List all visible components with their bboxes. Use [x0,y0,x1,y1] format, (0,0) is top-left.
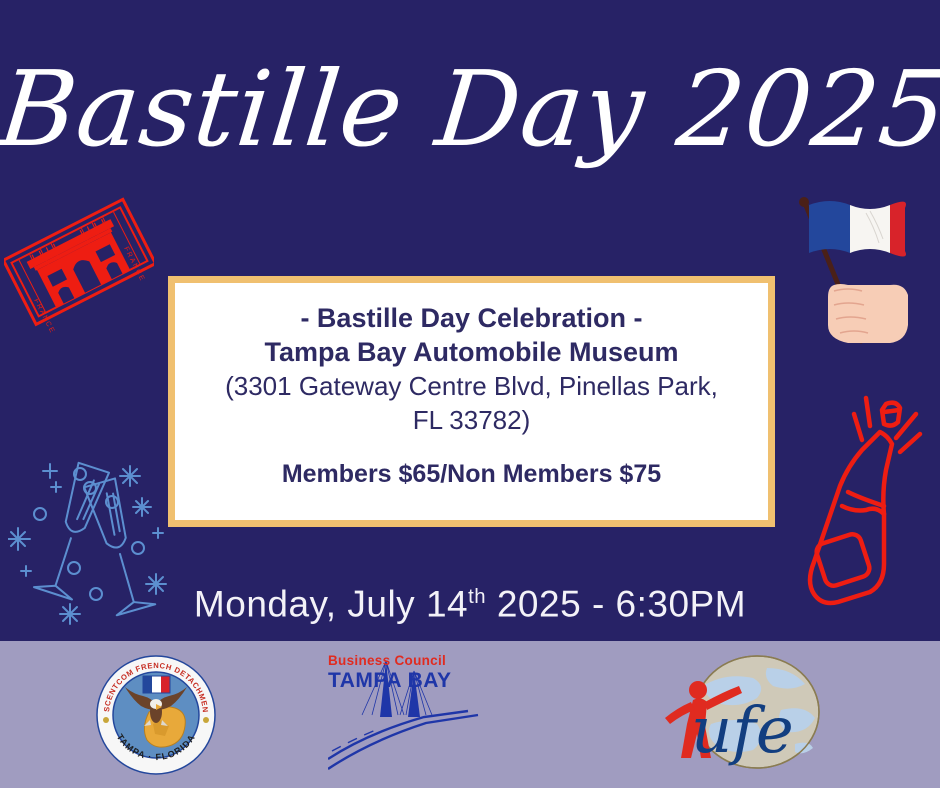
date-ordinal: th [468,586,486,608]
page-title: Bastille Day 2025 [0,48,940,170]
fabc-line-1: French-American [328,649,444,652]
event-address-line-1: (3301 Gateway Centre Blvd, Pinellas Park… [187,369,756,403]
date-suffix: 2025 - 6:30PM [486,583,746,624]
date-prefix: Monday, July 14 [194,583,468,624]
ufe-wordmark: ufe [691,694,794,768]
ufe-logo: ufe [649,652,845,778]
event-venue: Tampa Bay Automobile Museum [187,335,756,369]
french-american-business-council-logo: French-American Business Council TAMPA B… [328,649,538,781]
hand-holding-french-flag-icon [778,183,940,350]
event-pricing: Members $65/Non Members $75 [187,457,756,491]
fabc-line-3: TAMPA BAY [328,669,452,692]
event-date-time: Monday, July 14th 2025 - 6:30PM [0,573,940,628]
event-address-line-2: FL 33782) [187,403,756,437]
sponsor-logo-band: USCENTCOM FRENCH DETACHMENT TAMPA · FLOR… [0,641,940,788]
arc-de-triomphe-stamp-icon: FRANCE FRANCE [4,186,154,341]
bastille-day-poster: FRANCE FRANCE [0,0,940,788]
event-headline: - Bastille Day Celebration - [187,301,756,335]
uscentcom-french-detachment-logo: USCENTCOM FRENCH DETACHMENT TAMPA · FLOR… [95,654,217,776]
event-details-box: - Bastille Day Celebration - Tampa Bay A… [168,276,775,527]
fabc-line-2: Business Council [328,653,446,668]
